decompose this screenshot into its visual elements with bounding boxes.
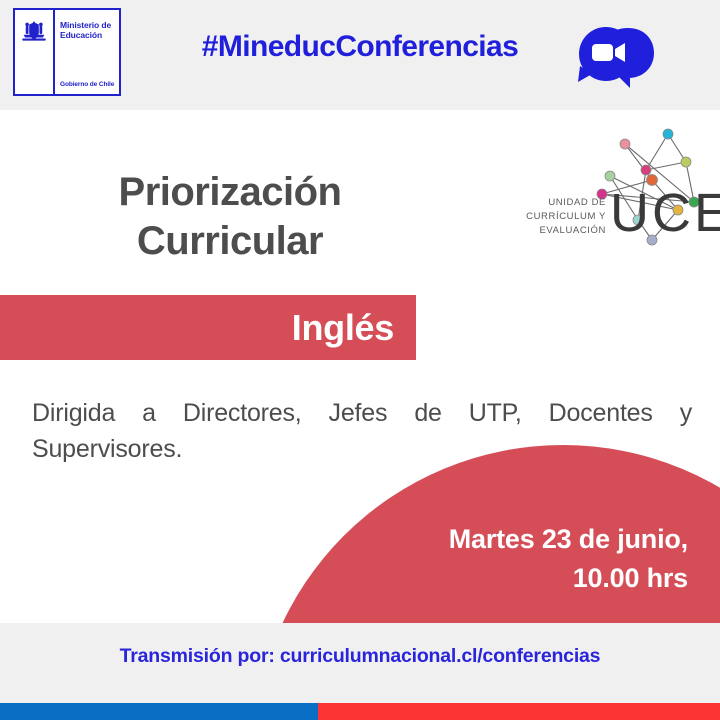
uce-sub-line-3: EVALUACIÓN	[539, 225, 606, 236]
chile-coat-of-arms-icon	[20, 21, 48, 43]
conference-hashtag: #MineducConferencias	[160, 30, 560, 64]
event-datetime: Martes 23 de junio, 10.00 hrs	[268, 520, 688, 598]
event-date: Martes 23 de junio,	[449, 524, 688, 554]
header-band: Ministerio de Educación Gobierno de Chil…	[0, 0, 720, 110]
subject-banner: Inglés	[0, 295, 416, 360]
uce-logo: UNIDAD DE CURRÍCULUM Y EVALUACIÓN UCE	[478, 128, 710, 258]
chile-flag-bar	[0, 703, 720, 720]
mineduc-logo: Ministerio de Educación Gobierno de Chil…	[13, 8, 121, 96]
ministry-name: Ministerio de Educación	[60, 21, 120, 41]
uce-sub-line-1: UNIDAD DE	[548, 197, 606, 208]
title-line-2: Curricular	[137, 219, 323, 263]
uce-subtitle: UNIDAD DE CURRÍCULUM Y EVALUACIÓN	[478, 196, 606, 237]
video-chat-bubble-icon	[570, 14, 658, 96]
uce-acronym: UCE	[610, 182, 720, 244]
page-title: Priorización Curricular	[40, 168, 420, 266]
government-label: Gobierno de Chile	[60, 81, 122, 88]
uce-sub-line-2: CURRÍCULUM Y	[526, 211, 606, 222]
ministry-line-2: Educación	[60, 30, 102, 40]
ministry-line-1: Ministerio de	[60, 20, 111, 30]
flag-red-segment	[318, 703, 720, 720]
conference-poster: Ministerio de Educación Gobierno de Chil…	[0, 0, 720, 720]
broadcast-link[interactable]: Transmisión por: curriculumnacional.cl/c…	[0, 645, 720, 668]
subject-label: Inglés	[292, 307, 416, 349]
title-line-1: Priorización	[119, 170, 342, 214]
event-time: 10.00 hrs	[573, 563, 688, 593]
logo-divider	[53, 10, 55, 94]
flag-blue-segment	[0, 703, 318, 720]
